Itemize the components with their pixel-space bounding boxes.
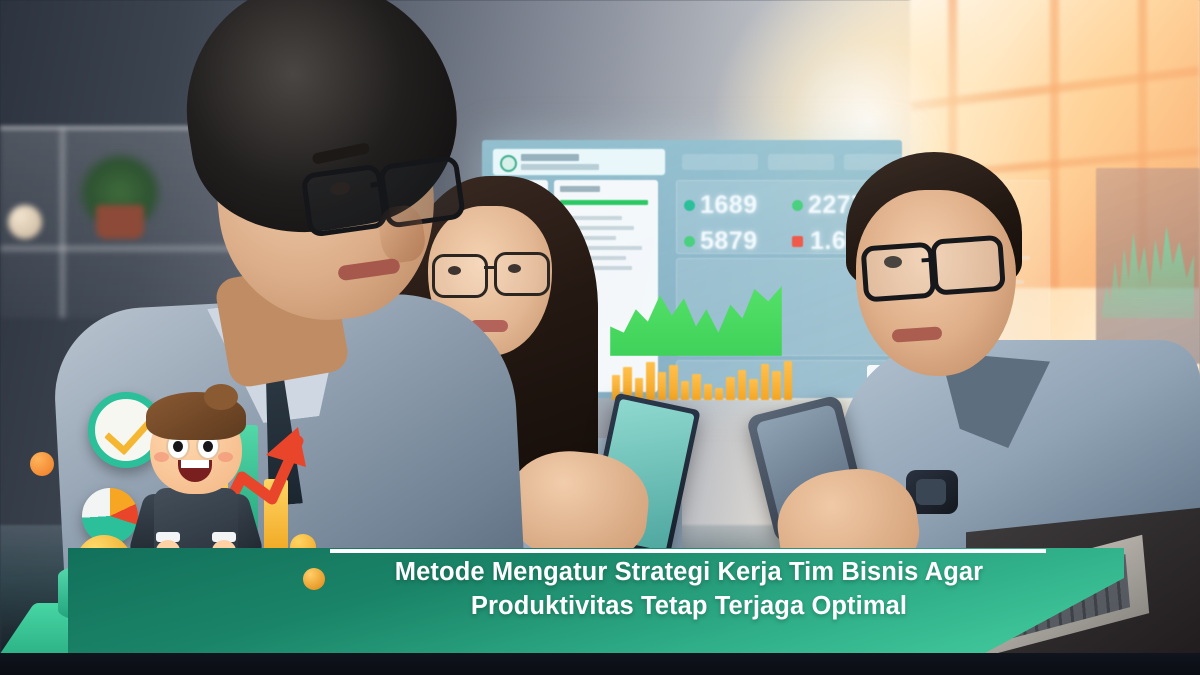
dashboard-tab-reports[interactable] [768,154,834,170]
progress-bar [560,200,648,205]
plant-pot [96,205,144,239]
bottom-strip [0,653,1200,675]
dashboard-logo-icon [500,155,517,172]
kpi-value-1: 1689 [700,191,758,220]
bar-chart [612,360,792,400]
dashboard-header-card [492,148,666,176]
kpi-value-3: 5879 [700,227,758,256]
kpi-dot-4 [792,236,803,247]
page-title-line-1: Metode Mengatur Strategi Kerja Tim Bisni… [395,558,983,586]
second-monitor [1096,168,1200,364]
list-card-title [560,186,600,192]
toon-cheek-right [218,452,233,462]
banner-top-rule [330,549,1046,553]
glasses-icon [432,252,548,294]
banner-accent-dot [303,568,325,590]
page-title-line-2: Produktivitas Tetap Terjaga Optimal [330,590,1048,624]
page-title: Metode Mengatur Strategi Kerja Tim Bisni… [330,556,1048,623]
sphere-orange-icon [30,452,54,476]
cup-object [8,205,42,239]
line-chart [1102,208,1194,318]
toon-cheek-left [154,452,169,462]
kpi-dot-3 [684,236,695,247]
glasses-icon [860,235,995,296]
screenshot-stage: 1689 2277 5879 1.60 92450 [0,0,1200,675]
kpi-dot-2 [792,200,803,211]
dashboard-header-subtitle [521,164,599,170]
kpi-dot-1 [684,200,695,211]
dashboard-header-title [521,154,579,161]
toon-hair [146,392,246,440]
dashboard-tab-overview[interactable] [682,154,758,170]
